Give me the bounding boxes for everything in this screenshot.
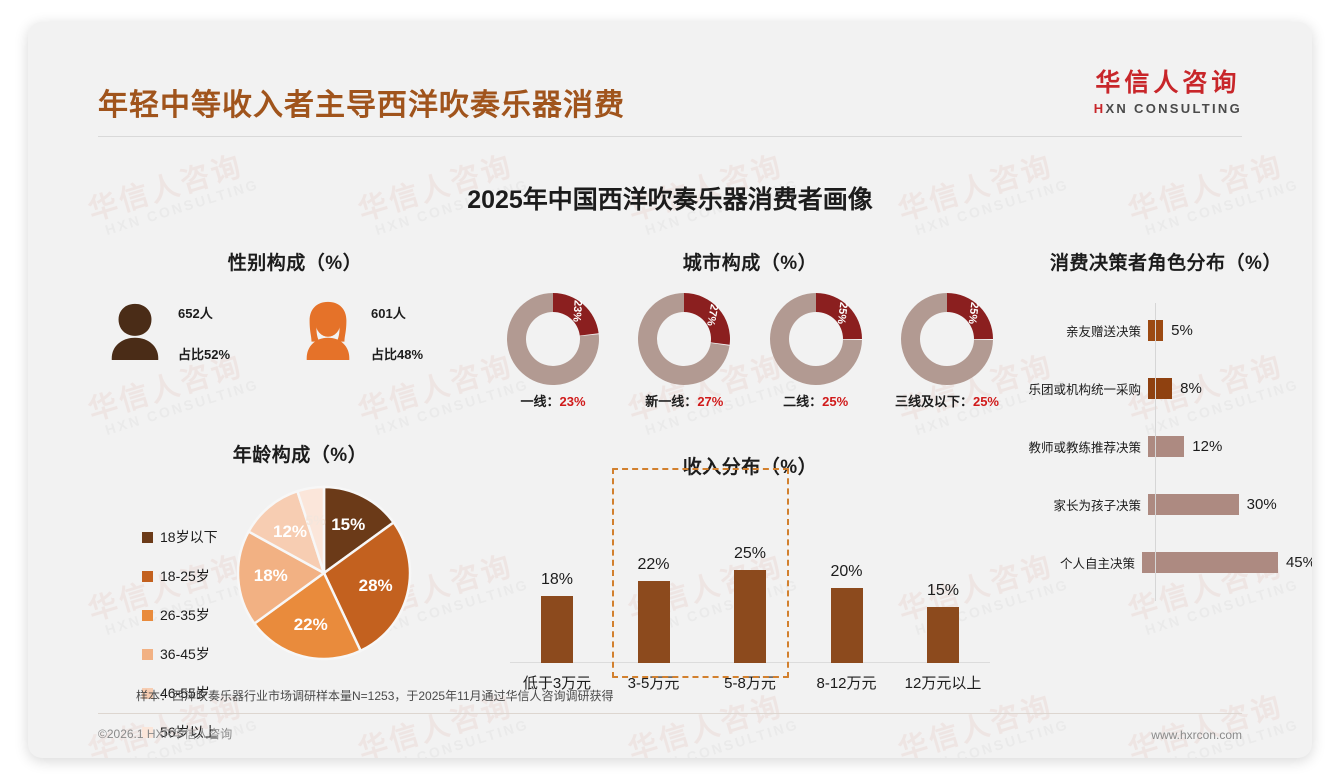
pie-slice-label: 12% <box>273 522 307 542</box>
gender-item: 652人占比52% <box>104 297 297 368</box>
age-panel: 年龄构成（%） 18岁以下18-25岁26-35岁36-45岁46-55岁56岁… <box>100 440 500 758</box>
age-pie-chart: 15%28%22%18%12%5% <box>236 485 412 661</box>
city-donut-row: 23%一线：23%27%新一线：27%25%二线：25%25%三线及以下：25% <box>490 293 1010 410</box>
decision-panel-title: 消费决策者角色分布（%） <box>1016 248 1312 275</box>
income-panel: 收入分布（%） 18%22%25%20%15% 低于3万元3-5万元5-8万元8… <box>502 452 998 693</box>
infographic-card: 华信人咨询HXN CONSULTING华信人咨询HXN CONSULTING华信… <box>28 22 1312 758</box>
donut-caption-value: 23% <box>559 394 585 409</box>
donut-chart: 25% <box>901 293 993 385</box>
pie-slice-label: 5% <box>306 512 326 528</box>
gender-panel-title: 性别构成（%） <box>100 248 490 275</box>
income-bar <box>927 607 959 663</box>
city-donut-item: 27%新一线：27% <box>625 293 743 410</box>
age-panel-body: 18岁以下18-25岁26-35岁36-45岁46-55岁56岁以上 15%28… <box>100 485 500 758</box>
city-panel: 城市构成（%） 23%一线：23%27%新一线：27%25%二线：25%25%三… <box>490 248 1010 410</box>
income-category-label: 12万元以上 <box>904 672 982 693</box>
income-bar-value: 25% <box>734 545 766 563</box>
pie-slice-label: 15% <box>331 515 365 535</box>
male-silhouette-icon <box>104 297 166 368</box>
decision-bar-value: 30% <box>1247 496 1277 513</box>
website-url[interactable]: www.hxrcon.com <box>1151 728 1242 742</box>
decision-bar <box>1148 494 1239 515</box>
income-bar-value: 18% <box>541 571 573 589</box>
sample-note: 样本：西洋吹奏乐器行业市场调研样本量N=1253，于2025年11月通过华信人咨… <box>136 687 614 704</box>
income-category-label: 8-12万元 <box>808 672 886 693</box>
decision-bar-value: 45% <box>1286 554 1312 571</box>
logo-english-rest: XN CONSULTING <box>1105 101 1242 116</box>
decision-bar-label: 教师或教练推荐决策 <box>1016 437 1148 456</box>
donut-caption-value: 25% <box>973 394 999 409</box>
gender-share: 占比52% <box>178 344 230 363</box>
gender-items: 652人占比52%601人占比48% <box>100 297 490 368</box>
income-bar <box>734 570 766 663</box>
income-bar <box>831 588 863 663</box>
watermark-text: 华信人咨询HXN CONSULTING <box>625 688 801 758</box>
donut-caption: 新一线：27% <box>625 391 743 410</box>
income-bar-value: 22% <box>637 556 669 574</box>
legend-swatch <box>142 610 153 621</box>
gender-item: 601人占比48% <box>297 297 490 368</box>
donut-caption-name: 三线及以下： <box>895 394 973 409</box>
income-bar-column: 22% <box>615 556 693 663</box>
age-legend-item: 18岁以下 <box>142 527 210 547</box>
decision-axis-line <box>1155 303 1156 601</box>
donut-caption-name: 二线： <box>783 394 822 409</box>
decision-bar-value: 8% <box>1180 380 1202 397</box>
decision-bar <box>1142 552 1278 573</box>
donut-caption-name: 新一线： <box>645 394 697 409</box>
decision-bar-row: 个人自主决策45% <box>1016 533 1312 591</box>
page-title: 年轻中等收入者主导西洋吹奏乐器消费 <box>98 80 625 124</box>
donut-caption: 一线：23% <box>494 391 612 410</box>
gender-stats: 652人占比52% <box>178 303 230 363</box>
decision-bar-row: 家长为孩子决策30% <box>1016 475 1312 533</box>
age-legend: 18岁以下18-25岁26-35岁36-45岁46-55岁56岁以上 <box>100 485 210 758</box>
watermark-text: 华信人咨询HXN CONSULTING <box>895 688 1071 758</box>
age-panel-title: 年龄构成（%） <box>100 440 500 467</box>
city-donut-item: 25%三线及以下：25% <box>888 293 1006 410</box>
logo-mark-letter: H <box>1094 101 1106 116</box>
pie-slice-label: 18% <box>254 566 288 586</box>
income-bar-column: 20% <box>808 563 886 663</box>
legend-swatch <box>142 571 153 582</box>
pie-slice-label: 22% <box>294 615 328 635</box>
donut-chart: 25% <box>770 293 862 385</box>
decision-bar-label: 乐团或机构统一采购 <box>1016 379 1148 398</box>
decision-bar-row: 乐团或机构统一采购8% <box>1016 359 1312 417</box>
donut-caption: 二线：25% <box>757 391 875 410</box>
age-legend-item: 36-45岁 <box>142 644 210 664</box>
income-bar-column: 25% <box>711 545 789 663</box>
pie-slice-label: 28% <box>359 576 393 596</box>
copyright-text: ©2026.1 HXR华信人咨询 <box>98 725 232 742</box>
income-bar-column: 15% <box>904 582 982 663</box>
city-panel-title: 城市构成（%） <box>490 248 1010 275</box>
decision-bar-chart: 亲友赠送决策5%乐团或机构统一采购8%教师或教练推荐决策12%家长为孩子决策30… <box>1016 301 1312 591</box>
decision-bar-row: 亲友赠送决策5% <box>1016 301 1312 359</box>
decision-bar-row: 教师或教练推荐决策12% <box>1016 417 1312 475</box>
legend-swatch <box>142 649 153 660</box>
income-bar <box>541 596 573 663</box>
donut-caption-value: 27% <box>697 394 723 409</box>
decision-bar <box>1148 378 1172 399</box>
logo-english-text: HXN CONSULTING <box>1094 101 1242 116</box>
header: 年轻中等收入者主导西洋吹奏乐器消费 华信人咨询 HXN CONSULTING <box>28 22 1312 130</box>
city-donut-item: 23%一线：23% <box>494 293 612 410</box>
income-bar-value: 20% <box>830 563 862 581</box>
income-bar-column: 18% <box>518 571 596 663</box>
footer-divider <box>98 713 1242 714</box>
chart-subtitle: 2025年中国西洋吹奏乐器消费者画像 <box>28 180 1312 216</box>
decision-panel: 消费决策者角色分布（%） 亲友赠送决策5%乐团或机构统一采购8%教师或教练推荐决… <box>1016 248 1312 591</box>
legend-swatch <box>142 532 153 543</box>
watermark-text: 华信人咨询HXN CONSULTING <box>1125 688 1301 758</box>
age-legend-item: 18-25岁 <box>142 566 210 586</box>
legend-label: 26-35岁 <box>160 605 210 625</box>
city-donut-item: 25%二线：25% <box>757 293 875 410</box>
decision-bar-label: 家长为孩子决策 <box>1016 495 1148 514</box>
gender-panel: 性别构成（%） 652人占比52%601人占比48% <box>100 248 490 368</box>
company-logo: 华信人咨询 HXN CONSULTING <box>1094 70 1242 116</box>
gender-share: 占比48% <box>371 344 423 363</box>
header-divider <box>98 136 1242 137</box>
decision-bar-label: 亲友赠送决策 <box>1016 321 1148 340</box>
age-legend-item: 26-35岁 <box>142 605 210 625</box>
donut-chart: 23% <box>507 293 599 385</box>
donut-caption-name: 一线： <box>520 394 559 409</box>
decision-bar-label: 个人自主决策 <box>1016 553 1142 572</box>
gender-count: 601人 <box>371 303 423 322</box>
donut-percent-label: 23% <box>571 300 584 323</box>
legend-label: 36-45岁 <box>160 644 210 664</box>
income-bar <box>638 581 670 663</box>
donut-chart: 27% <box>638 293 730 385</box>
decision-bar-value: 12% <box>1192 438 1222 455</box>
infographic-page: 华信人咨询HXN CONSULTING华信人咨询HXN CONSULTING华信… <box>0 0 1340 780</box>
gender-stats: 601人占比48% <box>371 303 423 363</box>
income-bar-value: 15% <box>927 582 959 600</box>
decision-bar-value: 5% <box>1171 322 1193 339</box>
legend-label: 18岁以下 <box>160 527 218 547</box>
donut-percent-label: 25% <box>835 301 850 324</box>
decision-bar <box>1148 436 1184 457</box>
donut-caption-value: 25% <box>822 394 848 409</box>
legend-label: 18-25岁 <box>160 566 210 586</box>
gender-count: 652人 <box>178 303 230 322</box>
logo-chinese-text: 华信人咨询 <box>1094 70 1242 98</box>
donut-caption: 三线及以下：25% <box>888 391 1006 410</box>
female-silhouette-icon <box>297 297 359 368</box>
